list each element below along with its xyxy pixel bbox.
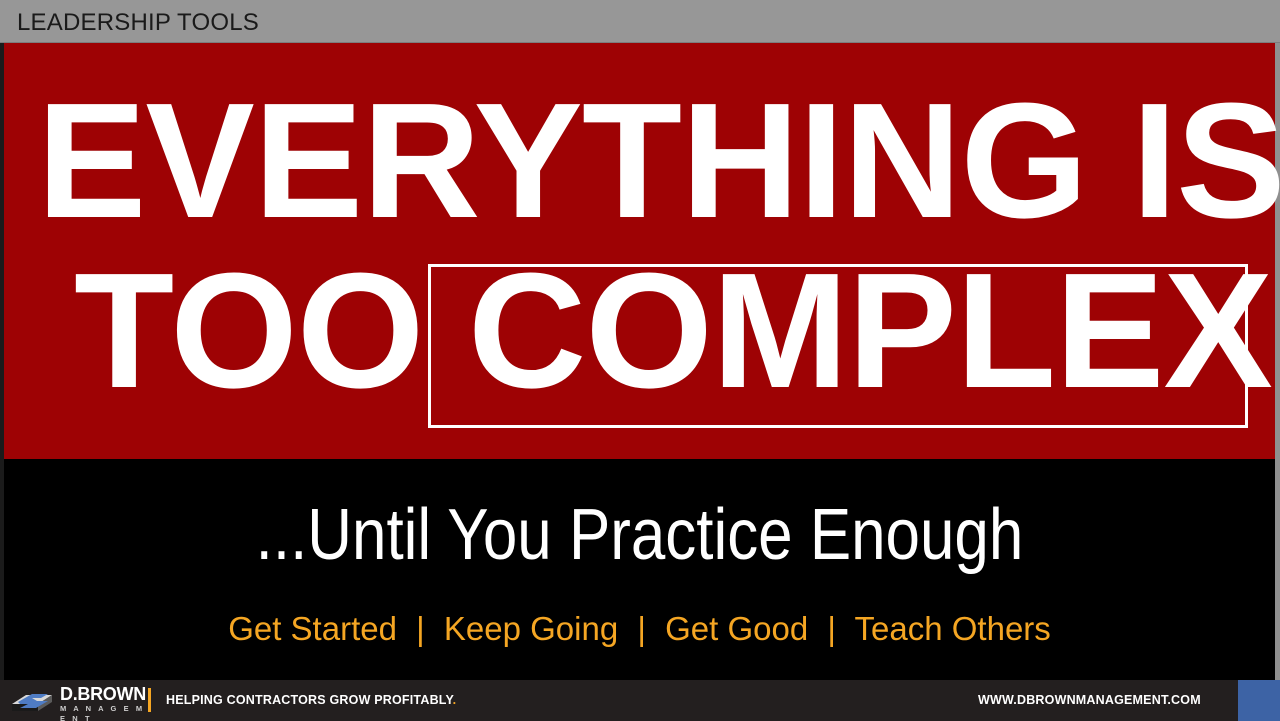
subhead-panel: ...Until You Practice Enough Get Started…	[4, 459, 1275, 680]
dbrown-book-logo-icon	[10, 687, 54, 715]
eyebrow-title: LEADERSHIP TOOLS	[17, 9, 259, 37]
step-item-1: Get Started	[228, 610, 397, 647]
headline-line-2: TOO COMPLEX	[74, 249, 1272, 413]
brand-name: D.BROWN	[60, 685, 150, 703]
footer-website-url[interactable]: WWW.DBROWNMANAGEMENT.COM	[978, 693, 1201, 707]
headline-panel: EVERYTHING IS TOO COMPLEX	[4, 43, 1275, 459]
footer-bar: D.BROWN M A N A G E M E N T HELPING CONT…	[0, 680, 1280, 721]
headline-line-1: EVERYTHING IS	[37, 79, 1280, 243]
step-separator-3: |	[817, 610, 846, 647]
step-item-3: Get Good	[665, 610, 808, 647]
eyebrow-bar: LEADERSHIP TOOLS	[0, 0, 1280, 43]
brand-subname: M A N A G E M E N T	[60, 704, 150, 721]
brand-logo[interactable]: D.BROWN M A N A G E M E N T	[10, 684, 142, 718]
footer-tagline: HELPING CONTRACTORS GROW PROFITABLY.	[166, 693, 456, 707]
footer-tagline-text: HELPING CONTRACTORS GROW PROFITABLY	[166, 693, 453, 707]
footer-divider	[148, 688, 151, 712]
brand-logo-text: D.BROWN M A N A G E M E N T	[60, 685, 150, 721]
footer-tagline-dot: .	[453, 693, 457, 707]
step-separator-1: |	[406, 610, 435, 647]
slide-canvas: LEADERSHIP TOOLS EVERYTHING IS TOO COMPL…	[0, 0, 1280, 721]
step-item-2: Keep Going	[444, 610, 618, 647]
step-separator-2: |	[627, 610, 656, 647]
steps-list: Get Started | Keep Going | Get Good | Te…	[4, 611, 1275, 647]
step-item-4: Teach Others	[855, 610, 1051, 647]
subhead-text: ...Until You Practice Enough	[93, 497, 1186, 573]
footer-accent-block	[1238, 680, 1280, 721]
